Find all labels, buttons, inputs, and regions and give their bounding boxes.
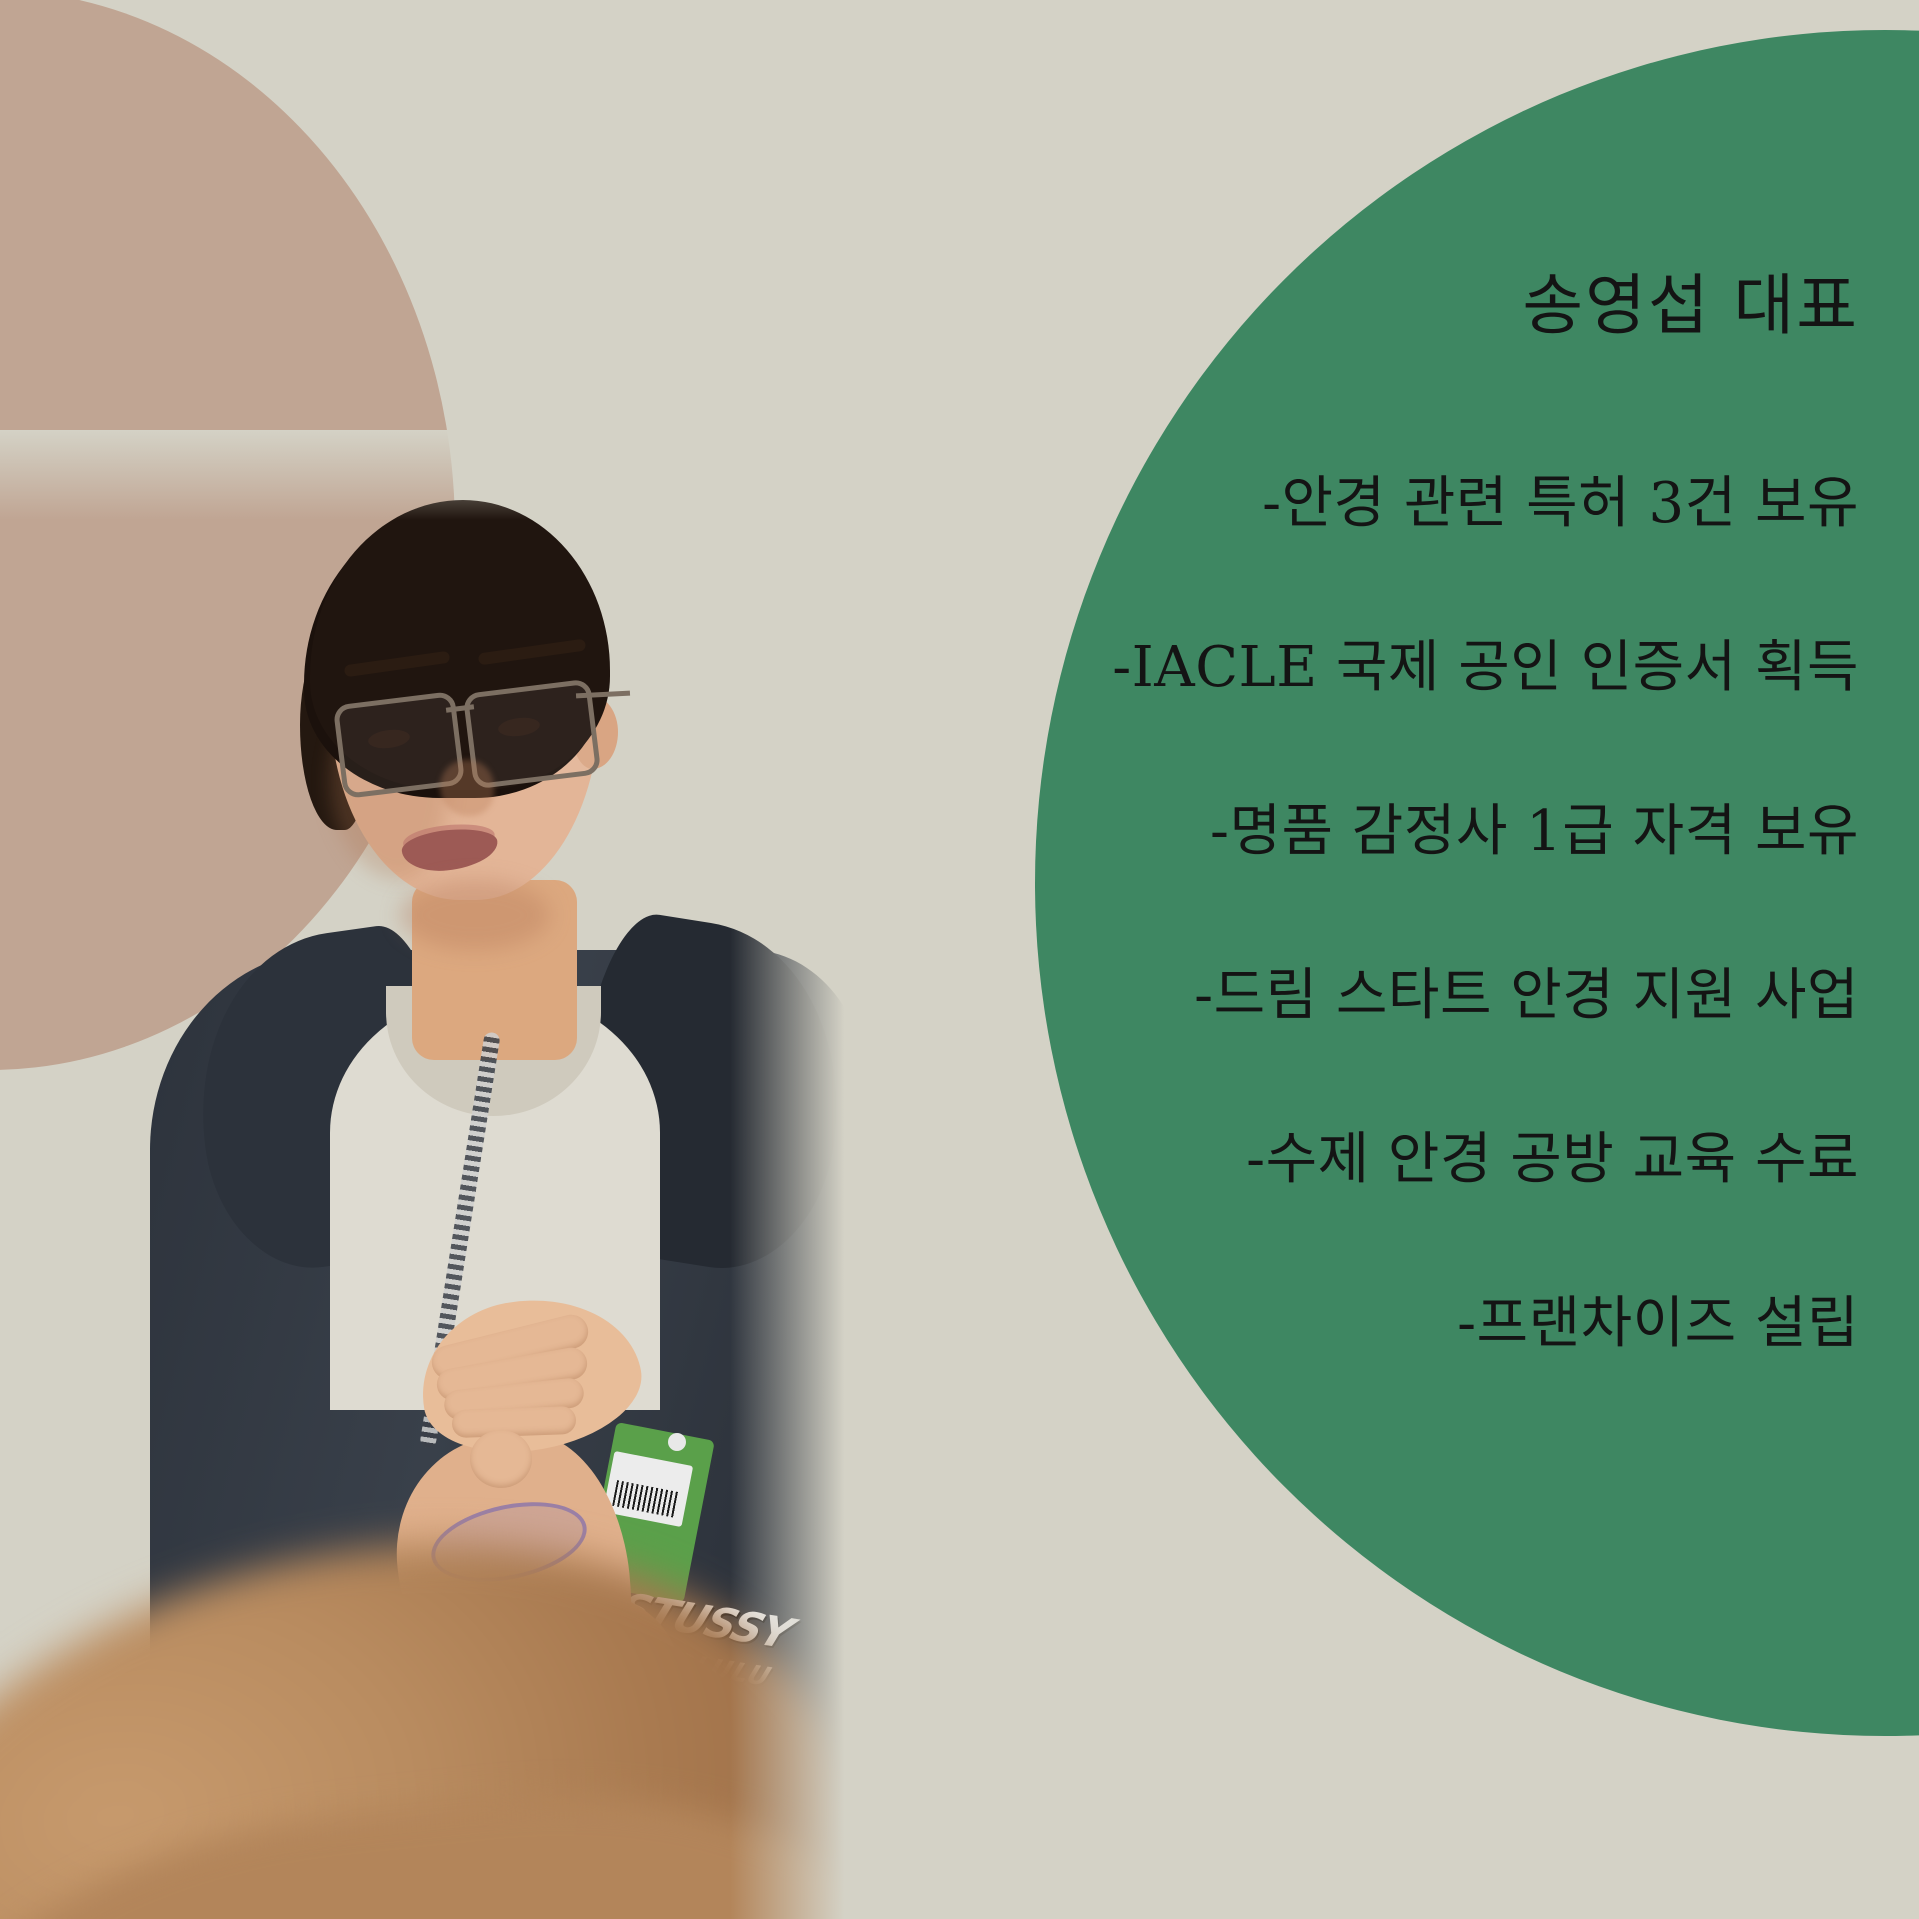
photo-edge-fade-right xyxy=(730,430,860,1919)
chin-shading xyxy=(400,880,550,950)
photo-edge-fade-top xyxy=(0,430,860,520)
subject-photo: STUSSY HONOLULU xyxy=(0,430,860,1919)
thumb-upper xyxy=(470,1430,532,1488)
photo-inner: STUSSY HONOLULU xyxy=(0,430,860,1919)
profile-card: STUSSY HONOLULU 송영섭 대표 -안경 관련 xyxy=(0,0,1919,1919)
price-tag-hole xyxy=(668,1433,686,1451)
green-decor-circle xyxy=(1035,30,1919,1736)
nose xyxy=(440,760,494,816)
